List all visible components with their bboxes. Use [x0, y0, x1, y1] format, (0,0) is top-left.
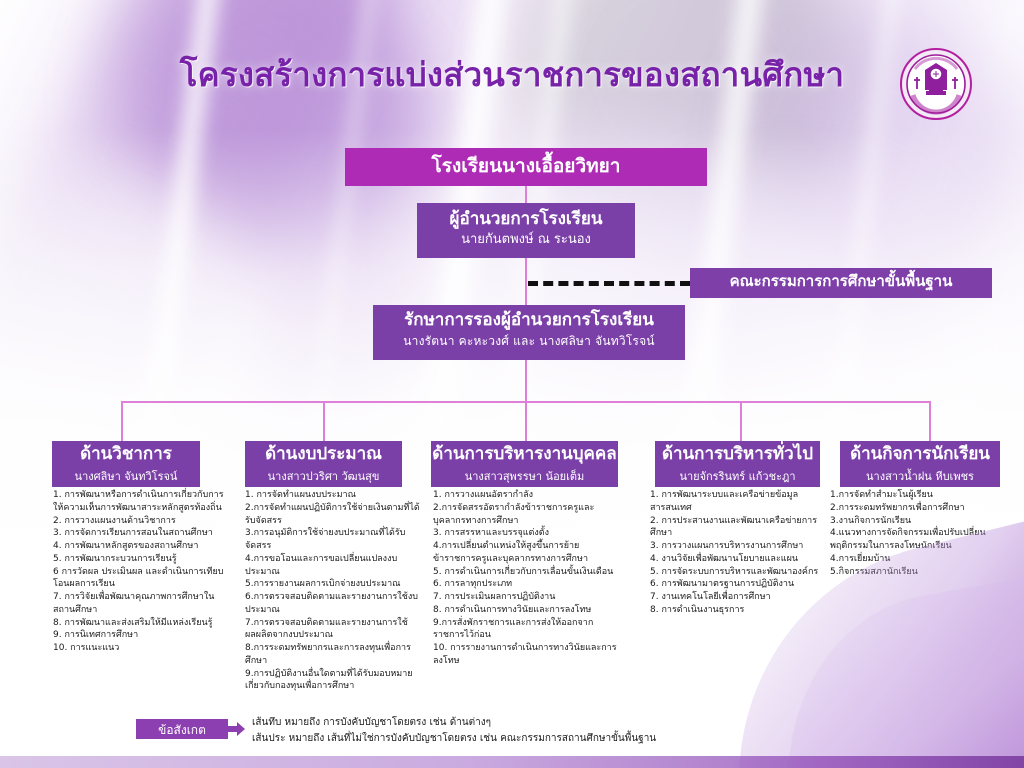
- list-item: ประมาณ: [245, 566, 433, 579]
- list-item: 2.การระดมทรัพยากรเพื่อการศึกษา: [830, 502, 1008, 515]
- list-item: 6.การตรวจสอบติดตามและรายงานการใช้งบ: [245, 591, 433, 604]
- list-item: 6. การพัฒนามาตรฐานการปฏิบัติงาน: [650, 578, 838, 591]
- dept-head-student-affairs[interactable]: ด้านกิจการนักเรียน นางสาวน้ำฝน หีบเพชร: [840, 441, 1000, 487]
- dept-list-general-administration: 1. การพัฒนาระบบและเครือข่ายข้อมูล สารสนเ…: [650, 489, 838, 617]
- node-director[interactable]: ผู้อำนวยการโรงเรียน นายกันตพงษ์ ณ ระนอง: [417, 203, 635, 258]
- connector-drop-dept-4: [740, 401, 742, 441]
- list-item: 7. งานเทคโนโลยีเพื่อการศึกษา: [650, 591, 838, 604]
- dept-list-personnel: 1. การวางแผนอัตรากำลัง 2.การจัดสรรอัตราก…: [433, 489, 629, 668]
- connector-school-to-director: [525, 186, 527, 203]
- list-item: ข้าราชการครูและบุคลากรทางการศึกษา: [433, 553, 629, 566]
- list-item: 3. การจัดการเรียนการสอนในสถานศึกษา: [53, 527, 241, 540]
- node-basic-education-committee[interactable]: คณะกรรมการการศึกษาขั้นพื้นฐาน: [690, 268, 992, 298]
- list-item: ลงโทษ: [433, 655, 629, 668]
- list-item: 4.การเปลี่ยนตำแหน่งให้สูงขึ้นการย้าย: [433, 540, 629, 553]
- dept-head-personnel[interactable]: ด้านการบริหารงานบุคคล นางสาวสุพรรษา น้อย…: [431, 441, 618, 487]
- connector-dashed-to-committee: [528, 281, 690, 286]
- legend-line: เส้นทึบ หมายถึง การบังคับบัญชาโดยตรง เช่…: [252, 715, 892, 731]
- legend-badge: ข้อสังเกต: [136, 719, 228, 739]
- list-item: 2. การประสานงานและพัฒนาเครือข่ายการ: [650, 515, 838, 528]
- list-item: 7. การวิจัยเพื่อพัฒนาคุณภาพการศึกษาใน: [53, 591, 241, 604]
- dept-head-name: นายจักรรินทร์ แก้วชะฎา: [655, 467, 820, 485]
- list-item: สารสนเทศ: [650, 502, 838, 515]
- list-item: ศึกษา: [650, 527, 838, 540]
- connector-drop-dept-3: [525, 401, 527, 441]
- dept-head-name: นางสาวน้ำฝน หีบเพชร: [840, 467, 1000, 485]
- list-item: 1. การจัดทำแผนงบประมาณ: [245, 489, 433, 502]
- node-director-title: ผู้อำนวยการโรงเรียน: [417, 209, 635, 229]
- connector-deputy-to-bus: [525, 360, 527, 402]
- legend-arrow-icon: [228, 719, 246, 739]
- list-item: 5.กิจกรรมสภานักเรียน: [830, 566, 1008, 579]
- legend-badge-label: ข้อสังเกต: [158, 723, 206, 737]
- dept-head-title: ด้านงบประมาณ: [245, 445, 402, 464]
- dept-head-budget[interactable]: ด้านงบประมาณ นางสาวปวริศา วัฒนสุข: [245, 441, 402, 487]
- list-item: 7.การตรวจสอบติดตามและรายงานการใช้: [245, 617, 433, 630]
- list-item: 10. การรายงานการดำเนินการทางวินัยและการ: [433, 642, 629, 655]
- page-title: โครงสร้างการแบ่งส่วนราชการของสถานศึกษา: [0, 48, 1024, 101]
- list-item: 5. การดำเนินการเกี่ยวกับการเลื่อนขั้นเงิ…: [433, 566, 629, 579]
- node-director-name: นายกันตพงษ์ ณ ระนอง: [417, 232, 635, 247]
- list-item: 8. การพัฒนาและส่งเสริมให้มีแหล่งเรียนรู้: [53, 617, 241, 630]
- connector-drop-dept-5: [929, 401, 931, 441]
- list-item: 4.แนวทางการจัดกิจกรรมเพื่อปรับเปลี่ยน: [830, 527, 1008, 540]
- dept-list-student-affairs: 1.การจัดทำสำมะโนผู้เรียน 2.การระดมทรัพยา…: [830, 489, 1008, 578]
- connector-drop-dept-2: [323, 401, 325, 441]
- dept-head-title: ด้านการบริหารทั่วไป: [655, 445, 820, 464]
- list-item: บุคลากรทางการศึกษา: [433, 515, 629, 528]
- node-school-title: โรงเรียนนางเอื้อยวิทยา: [345, 155, 707, 177]
- list-item: 9. การนิเทศการศึกษา: [53, 629, 241, 642]
- list-item: 3. การวางแผนการบริหารงานการศึกษา: [650, 540, 838, 553]
- dept-list-budget: 1. การจัดทำแผนงบประมาณ 2.การจัดทำแผนปฏิบ…: [245, 489, 433, 693]
- dept-head-title: ด้านกิจการนักเรียน: [840, 445, 1000, 464]
- list-item: ราชการไว้ก่อน: [433, 629, 629, 642]
- list-item: ให้ความเห็นการพัฒนาสาระหลักสูตรท้องถิ่น: [53, 502, 241, 515]
- connector-drop-dept-1: [121, 401, 123, 441]
- list-item: 5. การพัฒนากระบวนการเรียนรู้: [53, 553, 241, 566]
- node-acting-deputy-director[interactable]: รักษาการรองผู้อำนวยการโรงเรียน นางรัตนา …: [373, 305, 685, 360]
- list-item: 6 การวัดผล ประเมินผล และดำเนินการเทียบ: [53, 566, 241, 579]
- list-item: รับจัดสรร: [245, 515, 433, 528]
- list-item: เกี่ยวกับกองทุนเพื่อการศึกษา: [245, 680, 433, 693]
- dept-head-name: นางสาวปวริศา วัฒนสุข: [245, 467, 402, 485]
- node-deputy-names: นางรัตนา คะหะวงศ์ และ นางศลิษา จันทวิโรจ…: [373, 334, 685, 348]
- list-item: 9.การสั่งพักราชการและการส่งให้ออกจาก: [433, 617, 629, 630]
- list-item: 2. การวางแผนงานด้านวิชาการ: [53, 515, 241, 528]
- list-item: 3. การสรรหาและบรรจุแต่งตั้ง: [433, 527, 629, 540]
- org-chart-page: โครงสร้างการแบ่งส่วนราชการของสถานศึกษา โ…: [0, 0, 1024, 768]
- list-item: 2.การจัดทำแผนปฏิบัติการใช้จ่ายเงินตามที่…: [245, 502, 433, 515]
- dept-head-title: ด้านวิชาการ: [52, 445, 200, 464]
- bottom-accent-bar: [0, 756, 1024, 768]
- list-item: 4.การขอโอนและการขอเปลี่ยนแปลงงบ: [245, 553, 433, 566]
- dept-head-general-administration[interactable]: ด้านการบริหารทั่วไป นายจักรรินทร์ แก้วชะ…: [655, 441, 820, 487]
- list-item: 9.การปฏิบัติงานอื่นใดตามที่ได้รับมอบหมาย: [245, 668, 433, 681]
- list-item: 1. การพัฒนาหรือการดำเนินการเกี่ยวกับการ: [53, 489, 241, 502]
- list-item: 4. การพัฒนาหลักสูตรของสถานศึกษา: [53, 540, 241, 553]
- node-committee-title: คณะกรรมการการศึกษาขั้นพื้นฐาน: [690, 273, 992, 291]
- list-item: ศึกษา: [245, 655, 433, 668]
- list-item: 8.การระดมทรัพยากรและการลงทุนเพื่อการ: [245, 642, 433, 655]
- list-item: 7. การประเมินผลการปฏิบัติงาน: [433, 591, 629, 604]
- list-item: สถานศึกษา: [53, 604, 241, 617]
- node-school[interactable]: โรงเรียนนางเอื้อยวิทยา: [345, 148, 707, 186]
- list-item: 8. การดำเนินการทางวินัยและการลงโทษ: [433, 604, 629, 617]
- dept-list-academic: 1. การพัฒนาหรือการดำเนินการเกี่ยวกับการ …: [53, 489, 241, 655]
- school-seal-icon: [899, 47, 973, 121]
- list-item: 3.การอนุมัติการใช้จ่ายงบประมาณที่ได้รับ: [245, 527, 433, 540]
- list-item: 3.งานกิจการนักเรียน: [830, 515, 1008, 528]
- legend-text: เส้นทึบ หมายถึง การบังคับบัญชาโดยตรง เช่…: [252, 715, 892, 746]
- connector-director-to-deputy: [525, 258, 527, 305]
- list-item: 8. การดำเนินงานธุรการ: [650, 604, 838, 617]
- legend-line: เส้นประ หมายถึง เส้นที่ไม่ใช่การบังคับบั…: [252, 731, 892, 747]
- list-item: 4. งานวิจัยเพื่อพัฒนานโยบายและแผน: [650, 553, 838, 566]
- list-item: 2.การจัดสรรอัตรากำลังข้าราชการครูและ: [433, 502, 629, 515]
- list-item: โอนผลการเรียน: [53, 578, 241, 591]
- list-item: 1.การจัดทำสำมะโนผู้เรียน: [830, 489, 1008, 502]
- dept-head-name: นางศลิษา จันทวิโรจน์: [52, 467, 200, 485]
- dept-head-title: ด้านการบริหารงานบุคคล: [431, 445, 618, 464]
- list-item: 5.การรายงานผลการเบิกจ่ายงบประมาณ: [245, 578, 433, 591]
- list-item: 5. การจัดระบบการบริหารและพัฒนาองค์กร: [650, 566, 838, 579]
- node-deputy-title: รักษาการรองผู้อำนวยการโรงเรียน: [373, 310, 685, 330]
- dept-head-name: นางสาวสุพรรษา น้อยเต็ม: [431, 467, 618, 485]
- list-item: 4.การเยี่ยมบ้าน: [830, 553, 1008, 566]
- list-item: 1. การวางแผนอัตรากำลัง: [433, 489, 629, 502]
- dept-head-academic[interactable]: ด้านวิชาการ นางศลิษา จันทวิโรจน์: [52, 441, 200, 487]
- list-item: จัดสรร: [245, 540, 433, 553]
- list-item: 1. การพัฒนาระบบและเครือข่ายข้อมูล: [650, 489, 838, 502]
- list-item: พฤติกรรมในการลงโทษนักเรียน: [830, 540, 1008, 553]
- list-item: 10. การแนะแนว: [53, 642, 241, 655]
- list-item: 6. การลาทุกประเภท: [433, 578, 629, 591]
- list-item: ผลผลิตจากงบประมาณ: [245, 629, 433, 642]
- list-item: ประมาณ: [245, 604, 433, 617]
